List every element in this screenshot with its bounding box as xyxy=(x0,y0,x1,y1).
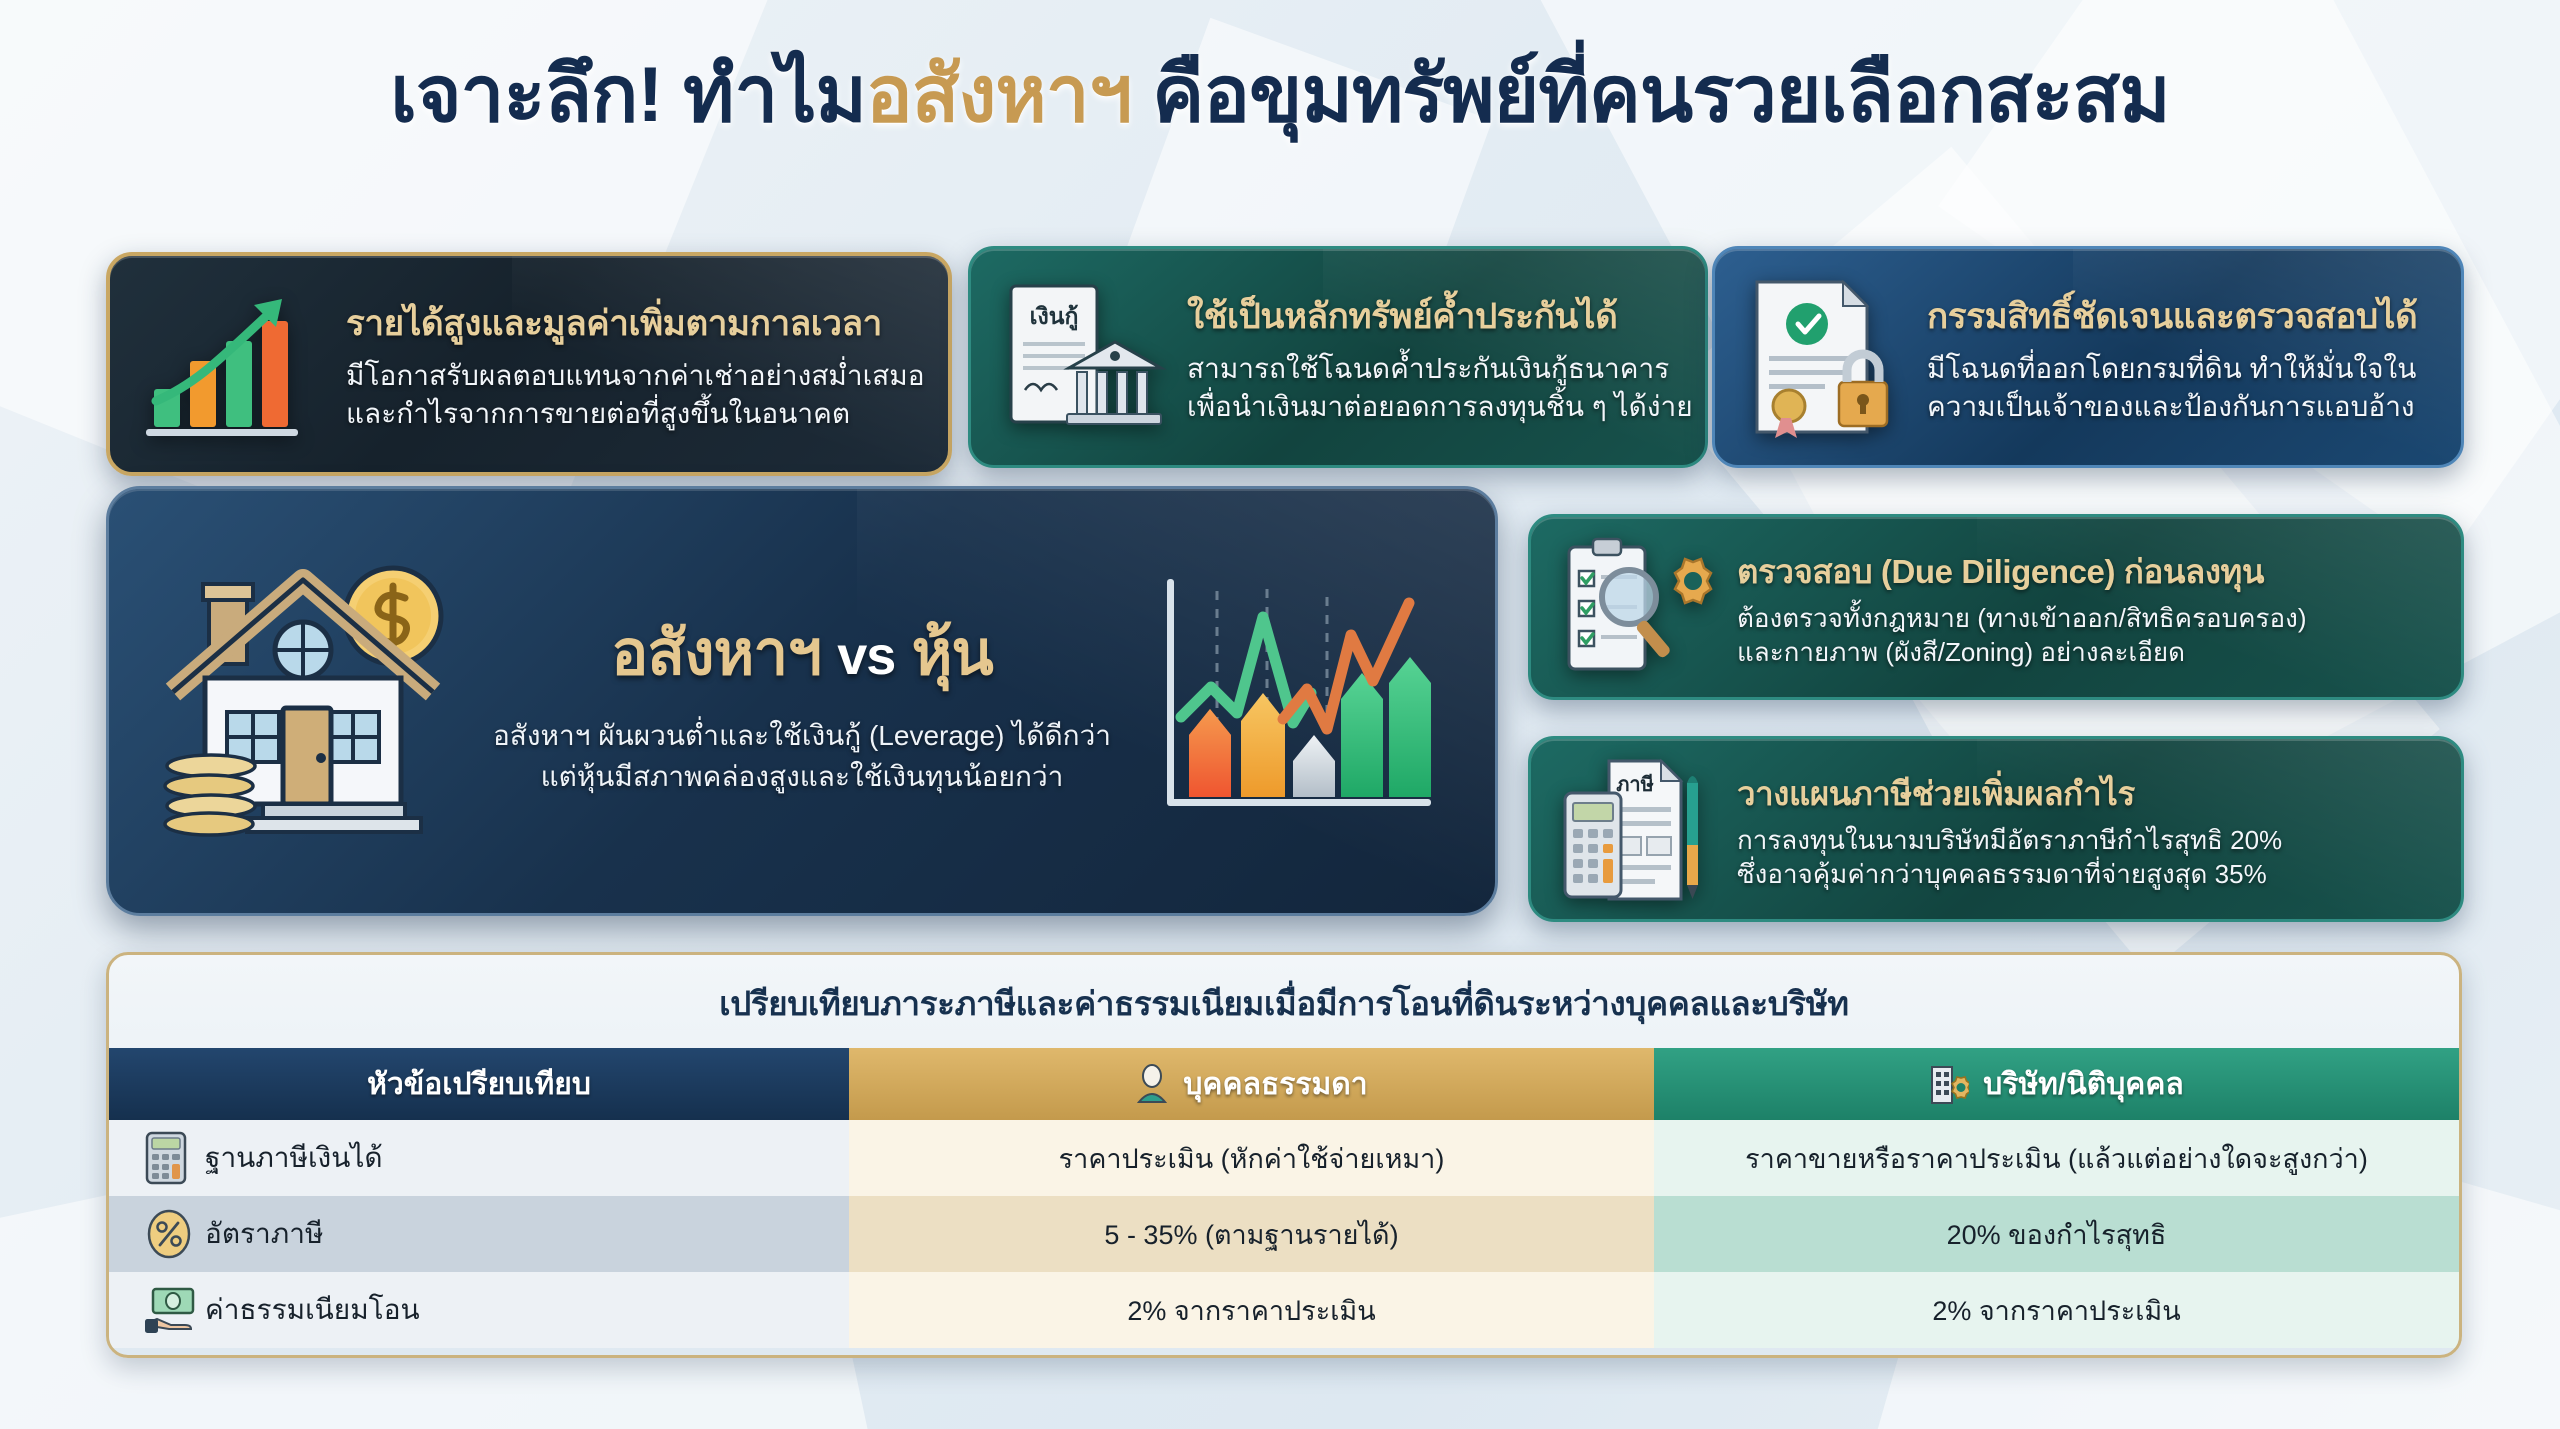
stock-arrow-chart-icon xyxy=(1151,561,1451,841)
card-income-line2: และกำไรจากการขายต่อที่สูงขึ้นในอนาคต xyxy=(346,395,925,433)
hero-comparison-panel[interactable]: อสังหาฯ vs หุ้น อสังหาฯ ผันผวนต่ำและใช้เ… xyxy=(106,486,1498,916)
verified-document-lock-icon xyxy=(1741,272,1907,442)
table-cell-topic: อัตราภาษี xyxy=(109,1196,849,1272)
card-title-deed[interactable]: กรรมสิทธิ์ชัดเจนและตรวจสอบได้ มีโฉนดที่อ… xyxy=(1712,246,2464,468)
table-row[interactable]: ค่าธรรมเนียมโอน 2% จากราคาประเมิน 2% จาก… xyxy=(109,1272,2459,1348)
svg-text:ภาษี: ภาษี xyxy=(1616,773,1654,796)
hero-heading: อสังหาฯ vs หุ้น xyxy=(463,604,1141,702)
table-header-individual: บุคคลธรรมดา xyxy=(849,1048,1654,1120)
hero-heading-vs: vs xyxy=(837,626,895,686)
table-header-company-label: บริษัท/นิติบุคคล xyxy=(1983,1061,2184,1108)
hero-heading-gold2: หุ้น xyxy=(912,619,993,688)
comparison-table-panel: เปรียบเทียบภาระภาษีและค่าธรรมเนียมเมื่อม… xyxy=(106,952,2462,1358)
hero-heading-gold: อสังหาฯ xyxy=(611,619,821,688)
table-cell-company: ราคาขายหรือราคาประเมิน (แล้วแต่อย่างใดจะ… xyxy=(1654,1120,2459,1196)
table-header-company: บริษัท/นิติบุคคล xyxy=(1654,1048,2459,1120)
card-collateral[interactable]: เงินกู้ ใช้เป็นหลักทรัพย์ค้ำประกันได้ สา… xyxy=(968,246,1708,468)
card-due-diligence-line1: ต้องตรวจทั้งกฎหมาย (ทางเข้าออก/สิทธิครอบ… xyxy=(1737,602,2435,636)
card-tax-planning[interactable]: ภาษี xyxy=(1528,736,2464,922)
growth-bar-chart-icon xyxy=(136,279,326,449)
card-title-deed-line1: มีโฉนดที่ออกโดยกรมที่ดิน ทำให้มั่นใจใน xyxy=(1927,350,2435,388)
card-income-line1: มีโอกาสรับผลตอบแทนจากค่าเช่าอย่างสม่ำเสม… xyxy=(346,357,925,395)
page-title-part1: เจาะลึก! ทำไม xyxy=(390,50,866,138)
card-tax-planning-heading: วางแผนภาษีช่วยเพิ่มผลกำไร xyxy=(1737,767,2435,820)
card-due-diligence[interactable]: ตรวจสอบ (Due Diligence) ก่อนลงทุน ต้องตร… xyxy=(1528,514,2464,700)
card-collateral-heading: ใช้เป็นหลักทรัพย์ค้ำประกันได้ xyxy=(1187,289,1693,344)
table-title: เปรียบเทียบภาระภาษีและค่าธรรมเนียมเมื่อม… xyxy=(109,955,2459,1048)
card-tax-planning-line1: การลงทุนในนามบริษัทมีอัตราภาษีกำไรสุทธิ … xyxy=(1737,824,2435,858)
page-title-part2: คือขุมทรัพย์ที่คนรวยเลือกสะสม xyxy=(1131,50,2169,138)
card-title-deed-heading: กรรมสิทธิ์ชัดเจนและตรวจสอบได้ xyxy=(1927,289,2435,344)
loan-document-bank-icon: เงินกู้ xyxy=(997,272,1167,442)
clipboard-magnifier-gear-icon xyxy=(1557,531,1717,683)
comparison-table: หัวข้อเปรียบเทียบ บุคคลธรรมดา xyxy=(109,1048,2459,1348)
card-collateral-line1: สามารถใช้โฉนดค้ำประกันเงินกู้ธนาคาร xyxy=(1187,350,1693,388)
hero-sub-line2: แต่หุ้นมีสภาพคล่องสูงและใช้เงินทุนน้อยกว… xyxy=(463,757,1141,798)
table-cell-company: 20% ของกำไรสุทธิ xyxy=(1654,1196,2459,1272)
card-due-diligence-heading: ตรวจสอบ (Due Diligence) ก่อนลงทุน xyxy=(1737,545,2435,598)
table-cell-individual: ราคาประเมิน (หักค่าใช้จ่ายเหมา) xyxy=(849,1120,1654,1196)
page-title: เจาะลึก! ทำไมอสังหาฯ คือขุมทรัพย์ที่คนรว… xyxy=(0,52,2560,138)
table-header-topic-label: หัวข้อเปรียบเทียบ xyxy=(367,1061,591,1108)
table-header-row: หัวข้อเปรียบเทียบ บุคคลธรรมดา xyxy=(109,1048,2459,1120)
hero-sub-line1: อสังหาฯ ผันผวนต่ำและใช้เงินกู้ (Leverage… xyxy=(463,716,1141,757)
table-row[interactable]: อัตราภาษี 5 - 35% (ตามฐานรายได้) 20% ของ… xyxy=(109,1196,2459,1272)
table-cell-topic-label: ฐานภาษีเงินได้ xyxy=(205,1142,383,1173)
calculator-icon xyxy=(145,1131,187,1185)
calculator-tax-document-icon: ภาษี xyxy=(1557,753,1717,905)
card-income[interactable]: รายได้สูงและมูลค่าเพิ่มตามกาลเวลา มีโอกา… xyxy=(106,252,952,476)
person-icon xyxy=(1135,1064,1169,1104)
table-cell-individual: 2% จากราคาประเมิน xyxy=(849,1272,1654,1348)
table-cell-topic: ฐานภาษีเงินได้ xyxy=(109,1120,849,1196)
page-title-highlight: อสังหาฯ xyxy=(866,50,1132,138)
percent-coin-icon xyxy=(145,1209,193,1259)
table-header-individual-label: บุคคลธรรมดา xyxy=(1183,1061,1367,1108)
building-gear-icon xyxy=(1929,1063,1969,1105)
card-income-heading: รายได้สูงและมูลค่าเพิ่มตามกาลเวลา xyxy=(346,296,925,351)
table-cell-topic-label: ค่าธรรมเนียมโอน xyxy=(205,1294,420,1325)
svg-text:เงินกู้: เงินกู้ xyxy=(1030,303,1079,331)
table-cell-topic: ค่าธรรมเนียมโอน xyxy=(109,1272,849,1348)
house-with-gold-coin-icon xyxy=(143,546,453,856)
card-title-deed-line2: ความเป็นเจ้าของและป้องกันการแอบอ้าง xyxy=(1927,388,2435,426)
table-cell-individual: 5 - 35% (ตามฐานรายได้) xyxy=(849,1196,1654,1272)
table-cell-topic-label: อัตราภาษี xyxy=(205,1218,323,1249)
cash-in-hand-icon xyxy=(145,1285,199,1335)
card-collateral-line2: เพื่อนำเงินมาต่อยอดการลงทุนชิ้น ๆ ได้ง่า… xyxy=(1187,388,1693,426)
table-cell-company: 2% จากราคาประเมิน xyxy=(1654,1272,2459,1348)
card-tax-planning-line2: ซึ่งอาจคุ้มค่ากว่าบุคคลธรรมดาที่จ่ายสูงส… xyxy=(1737,858,2435,892)
table-header-topic: หัวข้อเปรียบเทียบ xyxy=(109,1048,849,1120)
card-due-diligence-line2: และกายภาพ (ผังสี/Zoning) อย่างละเอียด xyxy=(1737,636,2435,670)
table-row[interactable]: ฐานภาษีเงินได้ ราคาประเมิน (หักค่าใช้จ่า… xyxy=(109,1120,2459,1196)
